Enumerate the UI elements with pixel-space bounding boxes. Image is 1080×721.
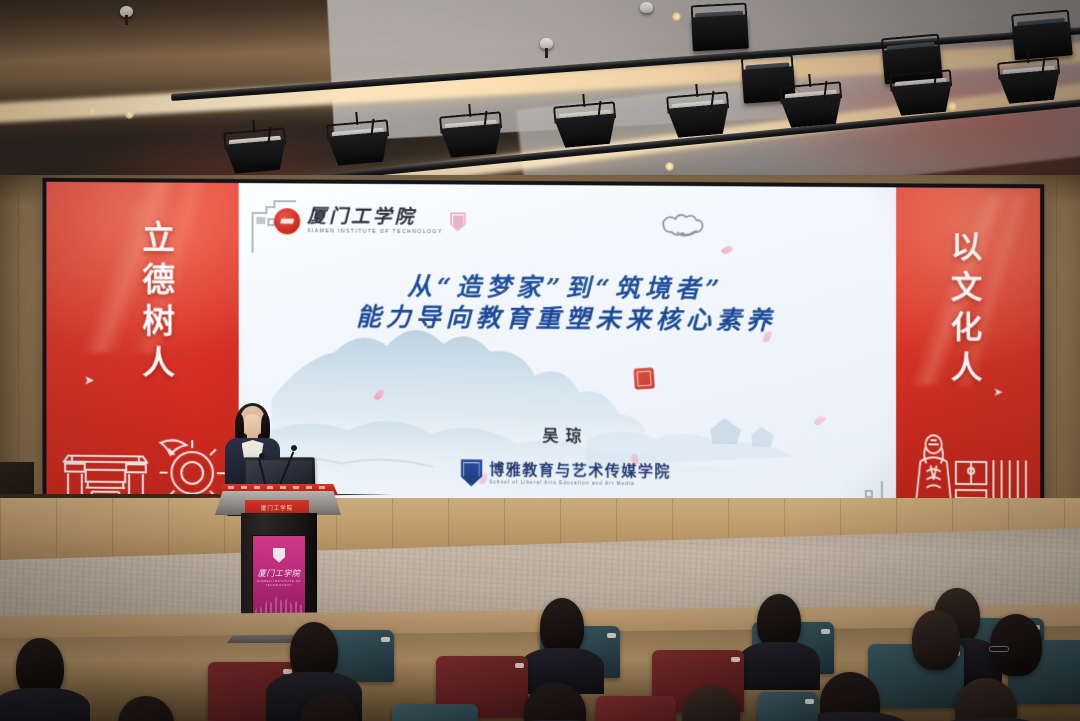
auditorium-seat (596, 696, 676, 721)
falling-petal (721, 244, 734, 256)
audience-area (0, 600, 1080, 721)
seat-number-tag (821, 629, 830, 634)
fixture-body (554, 113, 618, 148)
fixture-body (890, 81, 954, 116)
ceiling-dome-light (640, 2, 653, 13)
seat-number-tag (731, 657, 740, 662)
flying-bird-icon: ➤ (993, 386, 1002, 399)
fixture-body (691, 15, 749, 52)
audience-shoulders (738, 642, 820, 690)
auditorium-seat (758, 692, 818, 721)
auspicious-cloud-icon (658, 210, 720, 241)
fixture-body (780, 93, 844, 128)
lectern-nameplate-text: 厦门工学院 (261, 504, 293, 512)
school-shield-icon (460, 459, 482, 486)
seat-number-tag (381, 637, 390, 642)
auditorium-photo: 立德树人 ➤ (0, 0, 1080, 721)
fixture-body (998, 69, 1062, 104)
audience-head (118, 696, 174, 721)
lectern-screen-cn: 厦门工学院 (253, 568, 305, 579)
university-logo-row: 厦门工学院 XIAMEN INSTITUTE OF TECHNOLOGY (274, 207, 465, 235)
school-name-cn: 博雅教育与艺术传媒学院 (489, 462, 671, 479)
university-name-cn: 厦门工学院 (307, 207, 443, 227)
flying-bird-icon: ➤ (84, 372, 95, 388)
led-video-wall: 立德树人 ➤ (42, 178, 1044, 540)
ceiling-downlight (88, 106, 97, 115)
right-banner-text: 以文化人 (947, 230, 978, 391)
wall-panel-seam (1056, 175, 1057, 545)
slide-title-line1: 从“造梦家”到“筑境者” (239, 272, 896, 306)
seat-number-tag (805, 699, 814, 704)
microphone-head (291, 445, 297, 451)
seat-number-tag (607, 633, 616, 638)
university-name-en: XIAMEN INSTITUTE OF TECHNOLOGY (307, 228, 443, 235)
audience-shoulders (0, 688, 90, 721)
fixture-body (327, 131, 391, 166)
fixture-body (1012, 21, 1073, 60)
auditorium-seat (392, 704, 478, 721)
university-seal-icon (274, 208, 300, 234)
school-name-en: School of Liberal Arts Education and Art… (489, 479, 671, 486)
slide-title-line2: 能力导向教育重塑未来核心素养 (239, 303, 896, 338)
lectern-shield-icon (273, 548, 285, 563)
fixture-body (440, 123, 504, 158)
ceiling-dome-stem (545, 48, 548, 58)
red-seal-stamp-icon (634, 368, 655, 390)
lectern-screen-en: XIAMEN INSTITUTE OF TECHNOLOGY (253, 579, 305, 587)
fixture-body (667, 103, 731, 138)
right-red-banner: 以文化人 ➤ (896, 187, 1040, 535)
ceiling-downlight (948, 102, 957, 111)
left-banner-text: 立德树人 (140, 220, 173, 387)
ceiling-dome-stem (125, 15, 128, 25)
microphone-head-2 (259, 453, 265, 459)
audience-head-with-glasses (990, 614, 1042, 676)
secondary-shield-icon (450, 212, 466, 231)
audience-head (912, 610, 960, 670)
slide-title-block: 从“造梦家”到“筑境者” 能力导向教育重塑未来核心素养 (239, 272, 896, 337)
school-logo-row: 博雅教育与艺术传媒学院 School of Liberal Arts Educa… (460, 459, 671, 488)
eyeglasses-icon (989, 646, 1009, 652)
ceiling-downlight (672, 12, 681, 21)
ceiling-downlight (125, 110, 134, 119)
seat-number-tag (515, 663, 524, 668)
ceiling-downlight (665, 162, 674, 171)
fixture-body (224, 139, 288, 174)
